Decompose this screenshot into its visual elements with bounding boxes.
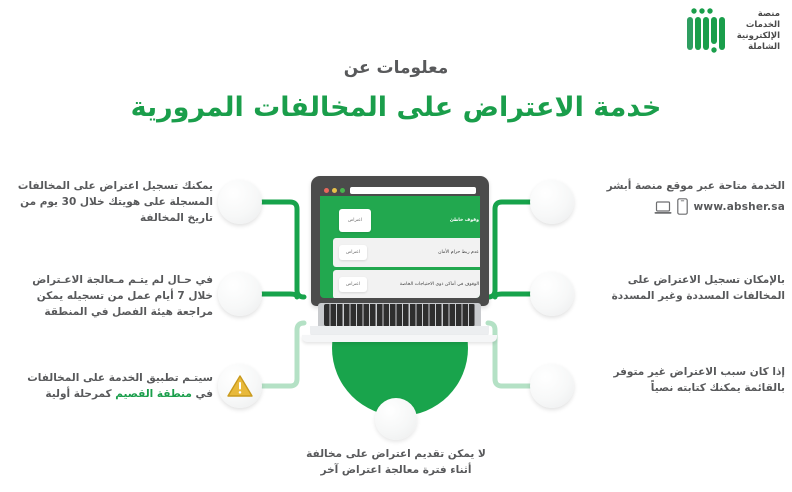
violation-row[interactable]: عدم ربط حزام الأمان اعتراض — [333, 238, 480, 267]
node-right-2 — [530, 272, 574, 316]
left-item-3-text: سيتـم تطبيق الخدمة على المخالفات في منطق… — [8, 370, 213, 402]
absher-url-line: www.absher.sa — [585, 198, 785, 215]
laptop-base — [297, 303, 502, 341]
node-left-3-warning — [218, 364, 262, 408]
object-button[interactable]: اعتراض — [339, 209, 371, 232]
laptop-lid: وقوف خاطئ اعتراض عدم ربط حزام الأمان اعت… — [311, 176, 489, 306]
object-button[interactable]: اعتراض — [339, 245, 367, 260]
address-bar[interactable] — [350, 187, 476, 194]
absher-url[interactable]: www.absher.sa — [694, 199, 785, 215]
warning-triangle-icon — [227, 374, 253, 398]
right-item-1: الخدمة متاحة عبر موقع منصة أبشر www.absh… — [585, 178, 785, 215]
violation-row[interactable]: الوقوف في أماكن ذوي الاحتياجات الخاصة اع… — [333, 270, 480, 298]
browser-toolbar — [320, 184, 480, 196]
node-left-2 — [218, 272, 262, 316]
bottom-item-text: لا يمكن تقديم اعتراض على مخالفة أثناء فت… — [296, 446, 496, 478]
phone-icon — [677, 198, 688, 215]
laptop-front-edge — [302, 335, 497, 342]
right-item-2-text: بالإمكان تسجيل الاعتراض على المخالفات ال… — [585, 272, 785, 304]
violation-label: وقوف خاطئ — [450, 218, 479, 224]
violations-list: وقوف خاطئ اعتراض عدم ربط حزام الأمان اعت… — [329, 205, 480, 298]
right-item-3-text: إذا كان سبب الاعتراض غير متوفر بالقائمة … — [585, 364, 785, 396]
violation-row[interactable]: وقوف خاطئ اعتراض — [333, 206, 480, 235]
node-right-1 — [530, 180, 574, 224]
laptop-icon — [654, 201, 672, 215]
left-item-3-highlight: منطقة القصيم — [115, 388, 192, 400]
object-button[interactable]: اعتراض — [339, 277, 367, 292]
laptop-illustration: وقوف خاطئ اعتراض عدم ربط حزام الأمان اعت… — [297, 176, 502, 341]
maximize-dot-icon — [340, 188, 345, 193]
violation-label: الوقوف في أماكن ذوي الاحتياجات الخاصة — [400, 282, 479, 288]
node-right-3 — [530, 364, 574, 408]
close-dot-icon — [324, 188, 329, 193]
minimize-dot-icon — [332, 188, 337, 193]
keyboard-keys — [324, 304, 475, 326]
node-left-1 — [218, 180, 262, 224]
laptop-screen: وقوف خاطئ اعتراض عدم ربط حزام الأمان اعت… — [320, 184, 480, 298]
node-bottom — [375, 398, 417, 440]
left-item-3-text-after: كمرحلة أولية — [45, 388, 115, 400]
left-item-2-text: في حـال لم يتـم مـعالجة الاعـتراض خلال 7… — [8, 272, 213, 320]
right-item-1-text: الخدمة متاحة عبر موقع منصة أبشر — [585, 178, 785, 194]
left-item-1-text: يمكنك تسجيل اعتراض على المخالفات المسجلة… — [8, 178, 213, 226]
infographic-canvas: منصة الخدمات الإلكترونية الشاملة معلومات… — [0, 0, 792, 492]
device-icons — [654, 198, 688, 215]
violation-label: عدم ربط حزام الأمان — [438, 250, 479, 256]
